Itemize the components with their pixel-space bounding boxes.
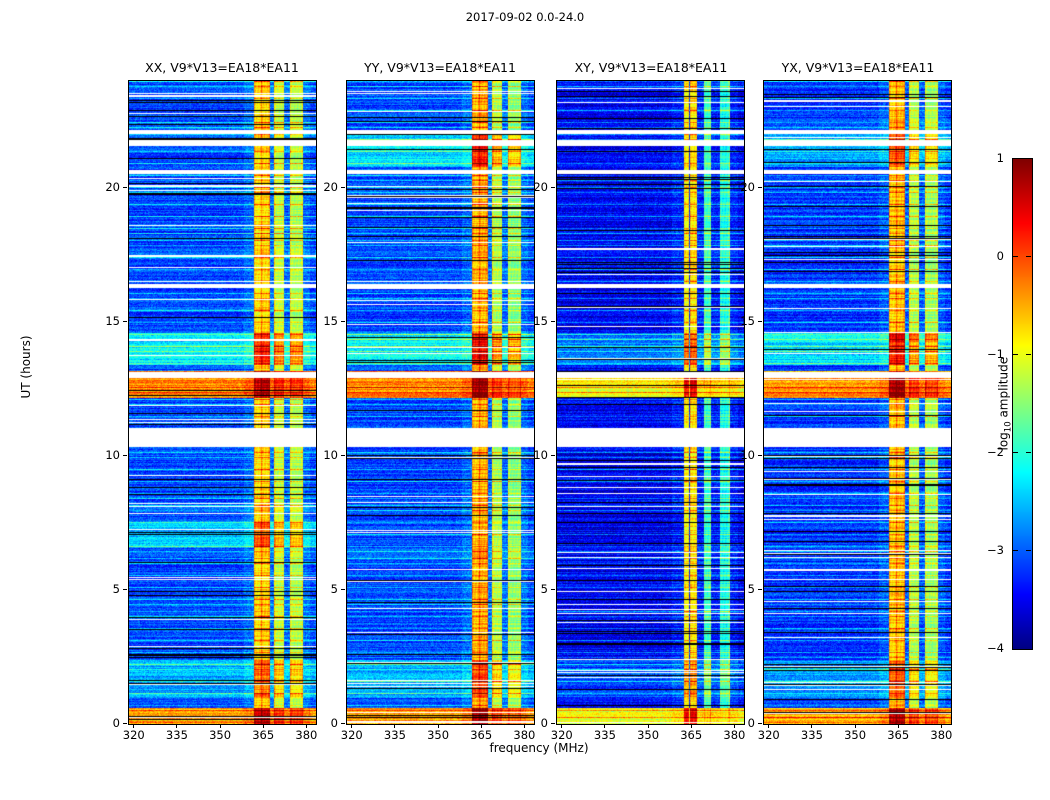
y-tickmark [551, 321, 555, 322]
x-tick-label: 320 [123, 728, 145, 742]
y-tick-label: 15 [516, 314, 548, 328]
y-tick-label: 5 [516, 582, 548, 596]
colorbar-tickmark [1026, 452, 1031, 453]
x-tick-label: 350 [637, 728, 659, 742]
x-tick-label: 335 [384, 728, 406, 742]
y-tickmark [758, 321, 762, 322]
y-tickmark [341, 455, 345, 456]
colorbar-label: log10 amplitude [996, 304, 1013, 504]
y-tickmark [123, 455, 127, 456]
y-tick-label: 0 [516, 716, 548, 730]
y-tickmark [758, 187, 762, 188]
x-tick-label: 380 [295, 728, 317, 742]
y-tickmark [551, 723, 555, 724]
x-tick-label: 335 [166, 728, 188, 742]
x-tick-label: 380 [513, 728, 535, 742]
y-tick-label: 10 [88, 448, 120, 462]
y-tickmark [758, 723, 762, 724]
colorbar-tickmark [1013, 256, 1018, 257]
y-tickmark [341, 723, 345, 724]
colorbar-tickmark [1026, 550, 1031, 551]
x-tick-label: 365 [470, 728, 492, 742]
y-tick-label: 20 [306, 180, 338, 194]
colorbar-tick-label: 0 [972, 249, 1004, 263]
y-tick-label: 20 [723, 180, 755, 194]
y-tick-label: 0 [88, 716, 120, 730]
figure-canvas: 2017-09-02 0.0-24.0 XX, V9*V13=EA18*EA11… [0, 0, 1050, 800]
x-tick-label: 365 [680, 728, 702, 742]
colorbar-tickmark [1013, 452, 1018, 453]
y-tickmark [341, 321, 345, 322]
y-tick-label: 0 [723, 716, 755, 730]
colorbar-tickmark [1013, 550, 1018, 551]
panel-title-xy: XY, V9*V13=EA18*EA11 [557, 60, 745, 75]
x-tick-label: 380 [930, 728, 952, 742]
x-tick-label: 350 [844, 728, 866, 742]
x-axis-label: frequency (MHz) [128, 741, 950, 755]
colorbar-label-sub: 10 [1004, 421, 1014, 432]
y-tickmark [123, 723, 127, 724]
panel-title-xx: XX, V9*V13=EA18*EA11 [128, 60, 316, 75]
y-tickmark [758, 455, 762, 456]
y-tick-label: 5 [306, 582, 338, 596]
y-tickmark [341, 187, 345, 188]
y-tickmark [123, 321, 127, 322]
colorbar-tick-label: −4 [972, 641, 1004, 655]
y-tick-label: 10 [306, 448, 338, 462]
colorbar-label-prefix: log [996, 432, 1010, 450]
colorbar-tick-label: −3 [972, 543, 1004, 557]
x-tick-label: 350 [427, 728, 449, 742]
colorbar-tickmark [1026, 354, 1031, 355]
x-tick-label: 320 [758, 728, 780, 742]
x-tick-label: 335 [594, 728, 616, 742]
x-tick-label: 320 [341, 728, 363, 742]
y-tick-label: 5 [723, 582, 755, 596]
x-tick-label: 335 [801, 728, 823, 742]
x-tick-label: 365 [887, 728, 909, 742]
y-tick-label: 20 [516, 180, 548, 194]
waterfall-panel-xx[interactable] [128, 80, 317, 725]
waterfall-panel-yx[interactable] [763, 80, 952, 725]
colorbar-tickmark [1026, 256, 1031, 257]
y-tick-label: 0 [306, 716, 338, 730]
y-tick-label: 5 [88, 582, 120, 596]
y-tick-label: 10 [723, 448, 755, 462]
y-tickmark [551, 187, 555, 188]
y-tickmark [551, 455, 555, 456]
y-tickmark [551, 589, 555, 590]
panel-title-yy: YY, V9*V13=EA18*EA11 [346, 60, 534, 75]
y-tick-label: 10 [516, 448, 548, 462]
waterfall-panel-xy[interactable] [556, 80, 745, 725]
x-tick-label: 365 [252, 728, 274, 742]
x-tick-label: 350 [209, 728, 231, 742]
waterfall-panel-yy[interactable] [346, 80, 535, 725]
y-tickmark [123, 187, 127, 188]
y-tick-label: 15 [88, 314, 120, 328]
x-tick-label: 320 [551, 728, 573, 742]
y-tick-label: 15 [306, 314, 338, 328]
y-tick-label: 15 [723, 314, 755, 328]
y-tickmark [123, 589, 127, 590]
y-tick-label: 20 [88, 180, 120, 194]
figure-suptitle: 2017-09-02 0.0-24.0 [0, 10, 1050, 24]
panel-title-yx: YX, V9*V13=EA18*EA11 [764, 60, 952, 75]
colorbar-label-suffix: amplitude [996, 357, 1010, 421]
x-tick-label: 380 [723, 728, 745, 742]
colorbar-tickmark [1013, 354, 1018, 355]
y-tickmark [341, 589, 345, 590]
y-tickmark [758, 589, 762, 590]
colorbar-tick-label: 1 [972, 151, 1004, 165]
y-axis-label: UT (hours) [19, 297, 33, 437]
colorbar[interactable] [1012, 158, 1033, 650]
